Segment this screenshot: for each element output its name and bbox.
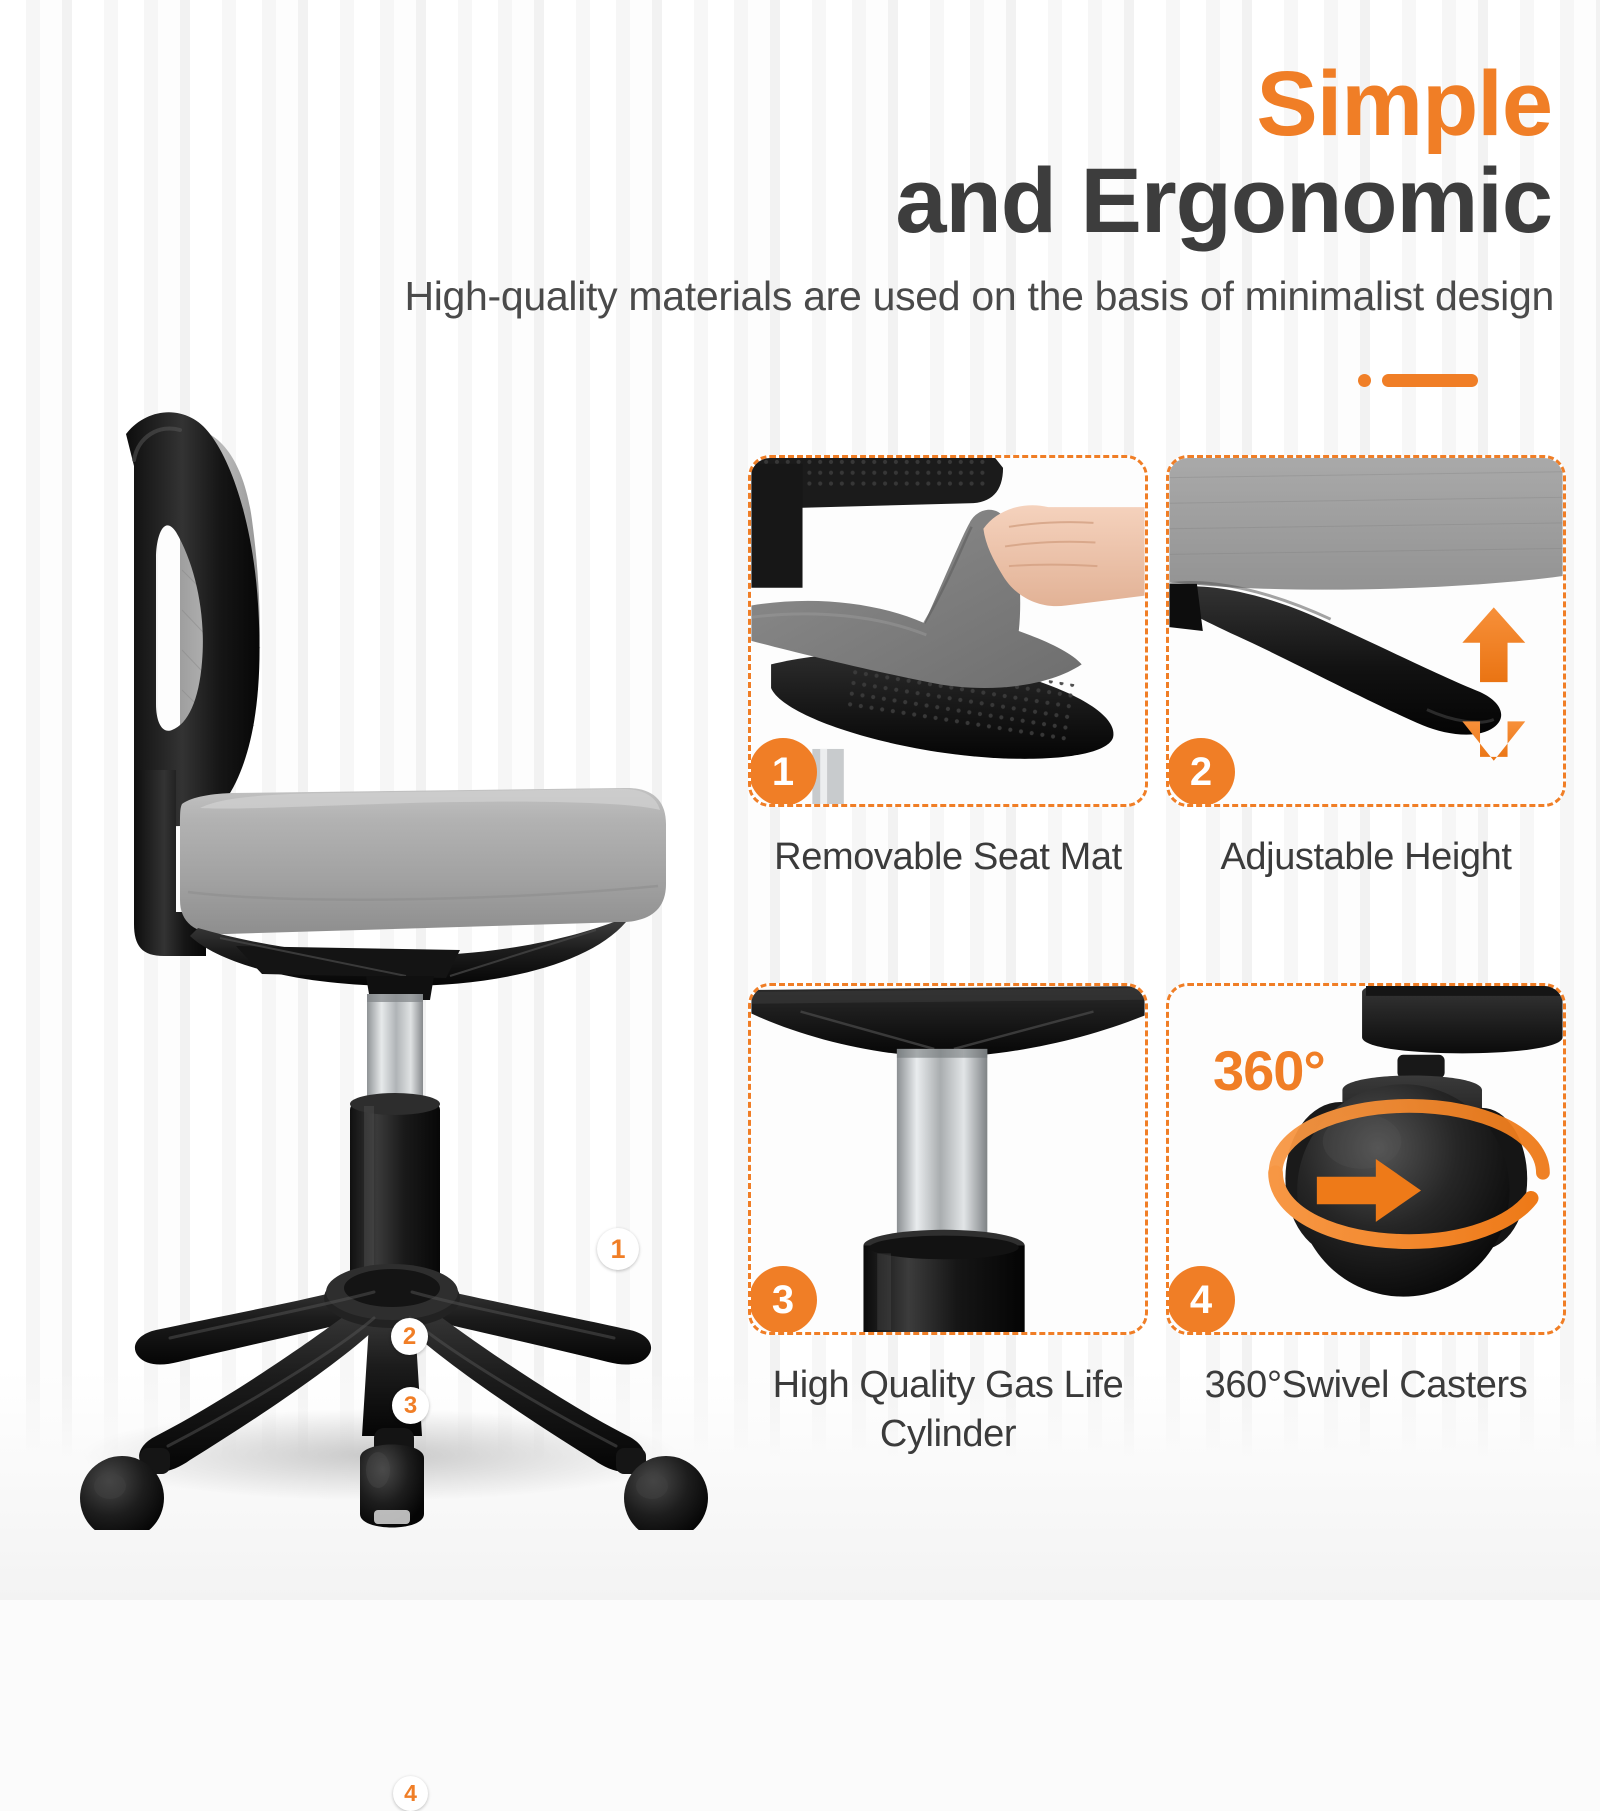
feature-badge-4: 4 (1167, 1266, 1235, 1334)
feature-badge-3: 3 (749, 1266, 817, 1334)
chair-callout-pin-4: 4 (393, 1776, 428, 1811)
feature-image-removable-seat-mat: 1 (748, 455, 1148, 807)
feature-card-swivel-casters: 360° 4 360°Swivel Casters (1166, 983, 1566, 1463)
feature-image-adjustable-height: 2 (1166, 455, 1566, 807)
feature-badge-2: 2 (1167, 738, 1235, 806)
accent-bar (1382, 374, 1478, 387)
page-title-line-1: Simple (260, 58, 1560, 150)
feature-caption-2: Adjustable Height (1166, 833, 1566, 882)
accent-divider (1358, 374, 1478, 387)
page-subtitle: High-quality materials are used on the b… (260, 273, 1560, 320)
header: Simple and Ergonomic High-quality materi… (260, 58, 1560, 320)
swivel-degree-label: 360° (1213, 1038, 1325, 1103)
feature-card-gas-cylinder: 3 High Quality Gas Life Cylinder (748, 983, 1148, 1463)
chair-callout-pin-3: 3 (392, 1387, 429, 1424)
feature-caption-4: 360°Swivel Casters (1166, 1361, 1566, 1410)
feature-caption-3: High Quality Gas Life Cylinder (748, 1361, 1148, 1458)
chair-callout-pin-1: 1 (597, 1228, 639, 1270)
feature-image-gas-cylinder: 3 (748, 983, 1148, 1335)
page-title-line-2: and Ergonomic (260, 150, 1560, 253)
feature-card-adjustable-height: 2 Adjustable Height (1166, 455, 1566, 935)
feature-card-removable-seat-mat: 1 Removable Seat Mat (748, 455, 1148, 935)
feature-panel-grid: 1 Removable Seat Mat (748, 455, 1566, 1535)
chair-illustration: 1 2 3 4 (30, 390, 730, 1530)
chair-callout-pin-2: 2 (391, 1318, 428, 1355)
accent-dot (1358, 374, 1371, 387)
feature-badge-1: 1 (749, 738, 817, 806)
feature-image-swivel-caster: 360° 4 (1166, 983, 1566, 1335)
feature-caption-1: Removable Seat Mat (748, 833, 1148, 882)
